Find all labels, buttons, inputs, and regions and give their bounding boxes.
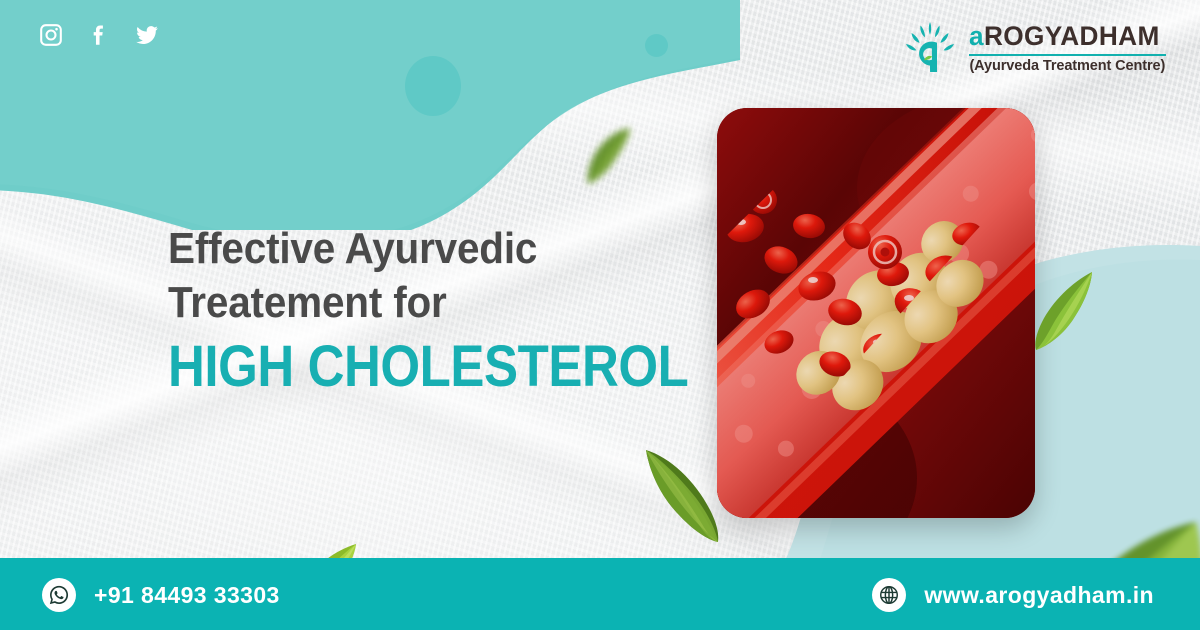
social-link-instagram[interactable] (38, 22, 64, 48)
website-url: www.arogyadham.in (924, 582, 1154, 609)
hero-image-card (717, 108, 1035, 518)
headline-line-2: Treatement for (168, 276, 646, 330)
headline-line-1: Effective Ayurvedic (168, 222, 646, 276)
instagram-icon (38, 22, 64, 48)
logo-wordmark: aROGYADHAM (969, 23, 1160, 50)
logo-word-rest: ROGYADHAM (984, 21, 1160, 51)
headline-block: Effective Ayurvedic Treatement for HIGH … (168, 222, 688, 400)
teal-dot-large-icon (405, 56, 461, 116)
artery-cholesterol-illustration (717, 108, 1035, 518)
facebook-icon (86, 22, 112, 48)
twitter-icon (134, 22, 160, 48)
ayurveda-leaf-monogram-icon (903, 18, 957, 80)
brand-logo[interactable]: aROGYADHAM (Ayurveda Treatment Centre) (903, 18, 1166, 80)
footer-phone[interactable]: +91 84493 33303 (42, 578, 280, 612)
globe-icon (872, 578, 906, 612)
social-link-twitter[interactable] (134, 22, 160, 48)
teal-dot-small-icon (645, 34, 668, 57)
whatsapp-icon (42, 578, 76, 612)
logo-divider (969, 54, 1166, 56)
social-links (38, 22, 160, 48)
logo-tagline: (Ayurveda Treatment Centre) (969, 59, 1166, 75)
headline-emphasis: HIGH CHOLESTEROL (168, 334, 626, 400)
promotional-banner: aROGYADHAM (Ayurveda Treatment Centre) E… (0, 0, 1200, 630)
phone-number: +91 84493 33303 (94, 582, 280, 609)
social-link-facebook[interactable] (86, 22, 112, 48)
footer-website[interactable]: www.arogyadham.in (872, 578, 1154, 612)
logo-lead-letter: a (969, 21, 984, 51)
